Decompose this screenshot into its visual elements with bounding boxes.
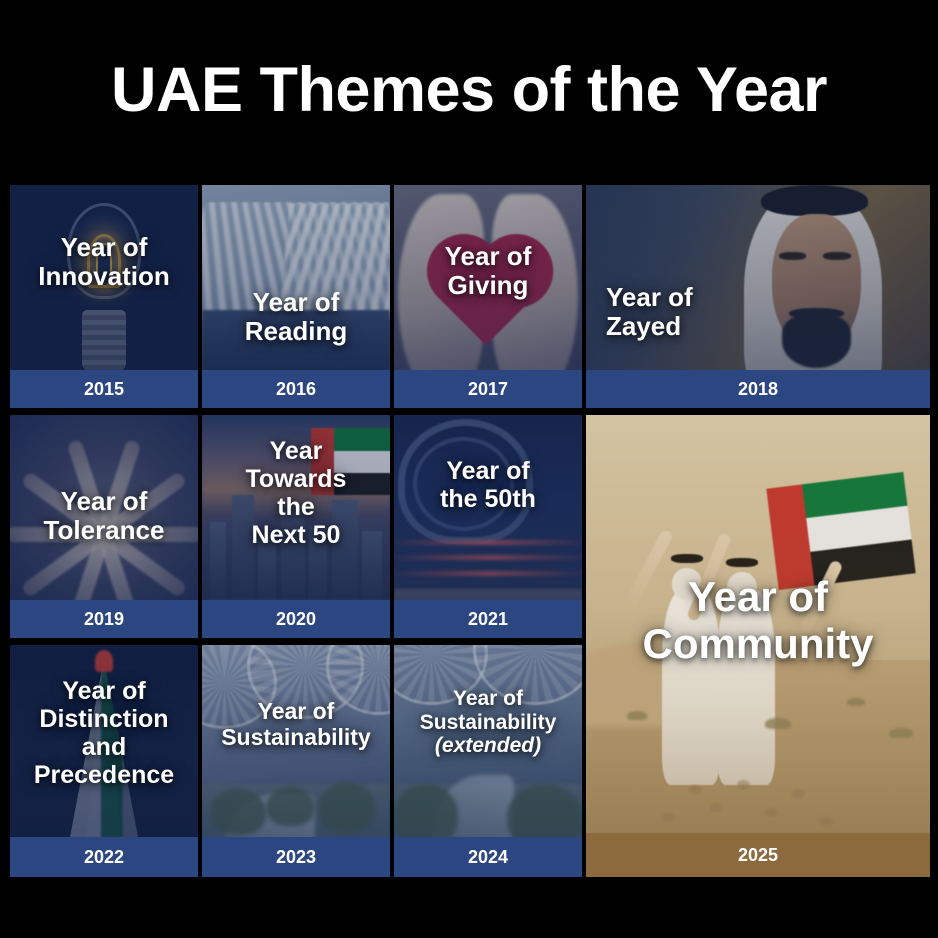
year-footer-2016: 2016	[202, 370, 390, 408]
title-line-extended: (extended)	[398, 734, 578, 758]
title-line: Sustainability	[221, 724, 371, 750]
title-line: Giving	[448, 270, 529, 300]
year-footer-2015: 2015	[10, 370, 198, 408]
year-footer-2022: 2022	[10, 837, 198, 877]
year-label: 2015	[84, 379, 124, 400]
card-2018[interactable]: Year of Zayed 2018	[586, 185, 930, 408]
card-2016[interactable]: Year of Reading 2016	[202, 185, 390, 408]
title-line: Year of	[445, 241, 532, 271]
card-2020[interactable]: Year Towards the Next 50 2020	[202, 415, 390, 638]
year-footer-2021: 2021	[394, 600, 582, 638]
card-title-2023: Year of Sustainability	[202, 699, 390, 751]
title-line: Year of	[258, 698, 335, 724]
card-2021[interactable]: Year of the 50th 2021	[394, 415, 582, 638]
year-label: 2019	[84, 609, 124, 630]
year-footer-2020: 2020	[202, 600, 390, 638]
title-line: Year of	[606, 282, 693, 312]
year-footer-2025: 2025	[586, 833, 930, 877]
year-footer-2018: 2018	[586, 370, 930, 408]
card-title-2019: Year of Tolerance	[10, 487, 198, 545]
infographic-page: UAE Themes of the Year Year of Innovatio…	[0, 0, 938, 938]
card-title-2021: Year of the 50th	[394, 457, 582, 513]
title-line: and	[82, 733, 126, 761]
card-title-2016: Year of Reading	[202, 288, 390, 346]
card-2019[interactable]: Year of Tolerance 2019	[10, 415, 198, 638]
year-label: 2022	[84, 847, 124, 868]
card-title-2017: Year of Giving	[394, 242, 582, 300]
page-title: UAE Themes of the Year	[111, 54, 827, 126]
year-footer-2017: 2017	[394, 370, 582, 408]
year-label: 2020	[276, 609, 316, 630]
page-header: UAE Themes of the Year	[0, 0, 938, 180]
title-line: Year of	[61, 486, 148, 516]
card-title-2024: Year of Sustainability (extended)	[394, 687, 582, 758]
title-line: Year	[270, 437, 323, 465]
title-line: Year of	[61, 232, 148, 262]
card-2022[interactable]: Year of Distinction and Precedence 2022	[10, 645, 198, 877]
year-label: 2017	[468, 379, 508, 400]
year-footer-2024: 2024	[394, 837, 582, 877]
year-label: 2018	[738, 379, 778, 400]
title-line: Towards	[246, 465, 347, 493]
title-line: Sustainability	[420, 711, 557, 734]
title-line: Zayed	[606, 311, 681, 341]
themes-grid: Year of Innovation 2015 Year of Reading …	[10, 185, 930, 877]
title-line: Year of	[446, 457, 529, 485]
title-line: Year of	[453, 687, 523, 710]
card-2025[interactable]: Year of Community 2025	[586, 415, 930, 877]
year-label: 2024	[468, 847, 508, 868]
year-label: 2023	[276, 847, 316, 868]
title-line: Innovation	[38, 261, 169, 291]
title-line: Distinction	[39, 705, 168, 733]
card-2015[interactable]: Year of Innovation 2015	[10, 185, 198, 408]
card-title-2025: Year of Community	[586, 573, 930, 667]
title-line: Tolerance	[44, 515, 165, 545]
title-line: Next 50	[252, 521, 341, 549]
title-line: Precedence	[34, 761, 174, 789]
card-title-2015: Year of Innovation	[10, 233, 198, 291]
card-2024[interactable]: Year of Sustainability (extended) 2024	[394, 645, 582, 877]
card-2017[interactable]: Year of Giving 2017	[394, 185, 582, 408]
year-label: 2021	[468, 609, 508, 630]
year-label: 2025	[738, 845, 778, 866]
card-title-2022: Year of Distinction and Precedence	[10, 677, 198, 789]
year-footer-2023: 2023	[202, 837, 390, 877]
title-line: Reading	[245, 316, 348, 346]
title-line: Year of	[62, 677, 145, 705]
title-line: Year of	[253, 287, 340, 317]
title-line: the	[277, 493, 315, 521]
card-title-2020: Year Towards the Next 50	[202, 437, 390, 549]
title-line: the 50th	[440, 485, 536, 513]
card-title-2018: Year of Zayed	[602, 283, 697, 341]
card-2023[interactable]: Year of Sustainability 2023	[202, 645, 390, 877]
year-label: 2016	[276, 379, 316, 400]
title-line: Community	[643, 620, 874, 667]
year-footer-2019: 2019	[10, 600, 198, 638]
title-line: Year of	[688, 573, 828, 620]
